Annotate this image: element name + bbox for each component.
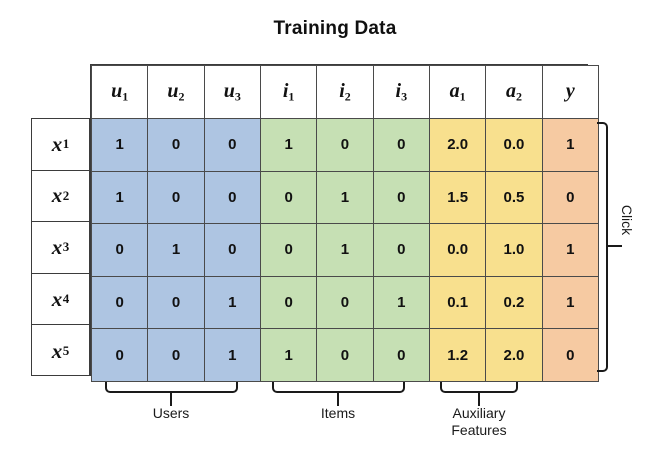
cell: 0: [92, 329, 148, 382]
cell: 0: [92, 224, 148, 277]
table-row: 0 1 0 0 1 0 0.0 1.0 1: [92, 224, 599, 277]
cell: 0: [148, 329, 204, 382]
row-label-base: x: [52, 183, 63, 208]
cell: 1: [260, 329, 316, 382]
users-bracket-stem: [170, 392, 172, 406]
column-header-sub: 1: [122, 89, 128, 103]
page-title: Training Data: [0, 18, 670, 40]
column-header-base: y: [566, 80, 575, 102]
column-header-sub: 2: [516, 89, 522, 103]
column-header-sub: 2: [179, 89, 185, 103]
column-header-sub: 2: [345, 89, 351, 103]
cell: 0: [148, 171, 204, 224]
cell: 0: [373, 224, 429, 277]
column-header: u1: [92, 66, 148, 119]
row-label: x5: [32, 325, 89, 377]
items-group-label: Items: [293, 405, 383, 422]
row-label-sub: 5: [63, 343, 70, 359]
cell: 1: [92, 171, 148, 224]
auxiliary-group-label: Auxiliary Features: [434, 405, 524, 439]
cell: 0.1: [429, 276, 485, 329]
column-header: u3: [204, 66, 260, 119]
cell: 0: [317, 329, 373, 382]
cell: 0: [204, 224, 260, 277]
cell: 1: [317, 171, 373, 224]
column-header: u2: [148, 66, 204, 119]
cell: 0: [148, 276, 204, 329]
cell: 1: [92, 119, 148, 172]
cell: 1: [373, 276, 429, 329]
cell: 1: [204, 276, 260, 329]
cell: 0.2: [486, 276, 542, 329]
row-label-sub: 4: [63, 291, 70, 307]
cell: 0: [317, 119, 373, 172]
table-row: 1 0 0 1 0 0 2.0 0.0 1: [92, 119, 599, 172]
click-target-label: Click: [619, 185, 635, 255]
column-header: a2: [486, 66, 542, 119]
column-header: a1: [429, 66, 485, 119]
column-header: i2: [317, 66, 373, 119]
auxiliary-label-line2: Features: [434, 422, 524, 439]
cell: 1: [542, 224, 598, 277]
cell: 0: [204, 119, 260, 172]
cell: 0.0: [486, 119, 542, 172]
column-header: i3: [373, 66, 429, 119]
cell: 0: [373, 329, 429, 382]
cell: 0: [204, 171, 260, 224]
column-header-base: u: [111, 80, 122, 102]
cell: 0: [260, 171, 316, 224]
cell: 0: [317, 276, 373, 329]
cell: 0: [373, 171, 429, 224]
row-label-sub: 3: [63, 239, 70, 255]
cell: 0: [542, 171, 598, 224]
cell: 0: [260, 276, 316, 329]
row-label-base: x: [52, 339, 63, 364]
row-label: x1: [32, 119, 89, 171]
cell: 1: [204, 329, 260, 382]
table-body: 1 0 0 1 0 0 2.0 0.0 1 1 0 0 0 1 0: [92, 119, 599, 382]
data-table: u1 u2 u3 i1 i2 i3 a1 a2 y 1 0 0 1 0: [91, 65, 599, 382]
table-row: 0 0 1 1 0 0 1.2 2.0 0: [92, 329, 599, 382]
row-label-sub: 1: [63, 136, 70, 152]
column-header-sub: 3: [401, 89, 407, 103]
table-row: 1 0 0 0 1 0 1.5 0.5 0: [92, 171, 599, 224]
cell: 2.0: [429, 119, 485, 172]
row-label: x2: [32, 171, 89, 223]
cell: 0.5: [486, 171, 542, 224]
cell: 1: [542, 276, 598, 329]
auxiliary-bracket-stem: [478, 392, 480, 406]
row-label-base: x: [52, 287, 63, 312]
auxiliary-label-line1: Auxiliary: [434, 405, 524, 422]
cell: 1.5: [429, 171, 485, 224]
table-row: 0 0 1 0 0 1 0.1 0.2 1: [92, 276, 599, 329]
feature-matrix: u1 u2 u3 i1 i2 i3 a1 a2 y 1 0 0 1 0: [90, 64, 588, 376]
row-label-sub: 2: [63, 188, 70, 204]
row-label-base: x: [52, 132, 63, 157]
column-header-sub: 1: [460, 89, 466, 103]
row-label-base: x: [52, 235, 63, 260]
column-header-base: a: [506, 80, 516, 102]
column-header-sub: 1: [288, 89, 294, 103]
cell: 1: [148, 224, 204, 277]
table-header-row: u1 u2 u3 i1 i2 i3 a1 a2 y: [92, 66, 599, 119]
cell: 1: [260, 119, 316, 172]
row-label: x3: [32, 222, 89, 274]
column-header-base: u: [224, 80, 235, 102]
cell: 0: [260, 224, 316, 277]
cell: 1.0: [486, 224, 542, 277]
cell: 1: [317, 224, 373, 277]
row-label: x4: [32, 274, 89, 326]
cell: 0.0: [429, 224, 485, 277]
column-header-sub: 3: [235, 89, 241, 103]
column-header-base: u: [167, 80, 178, 102]
users-group-label: Users: [126, 405, 216, 422]
row-label-column: x1 x2 x3 x4 x5: [31, 118, 90, 376]
cell: 1: [542, 119, 598, 172]
cell: 0: [148, 119, 204, 172]
cell: 0: [542, 329, 598, 382]
column-header: i1: [260, 66, 316, 119]
cell: 0: [92, 276, 148, 329]
cell: 0: [373, 119, 429, 172]
cell: 2.0: [486, 329, 542, 382]
items-bracket-stem: [337, 392, 339, 406]
column-header: y: [542, 66, 598, 119]
column-header-base: a: [450, 80, 460, 102]
cell: 1.2: [429, 329, 485, 382]
table-header: u1 u2 u3 i1 i2 i3 a1 a2 y: [92, 66, 599, 119]
training-data-figure: Training Data x1 x2 x3 x4 x5 u1 u2 u3 i1: [0, 0, 670, 453]
